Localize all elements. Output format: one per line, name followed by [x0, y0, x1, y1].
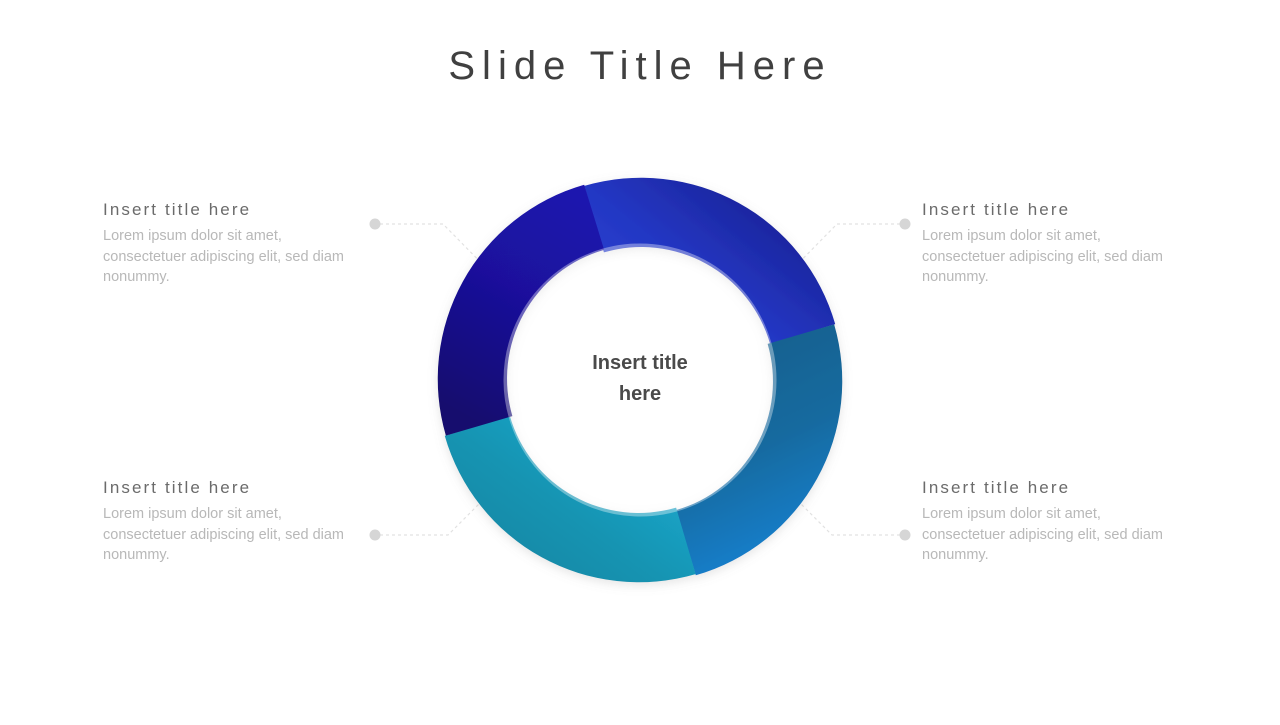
callout-top-right-body: Lorem ipsum dolor sit amet, consectetuer…	[922, 226, 1172, 288]
donut-center-line1: Insert title	[540, 348, 740, 379]
callout-top-left-title: Insert title here	[103, 200, 353, 220]
slide-canvas: Slide Title Here	[0, 0, 1280, 720]
callout-top-left[interactable]: Insert title here Lorem ipsum dolor sit …	[103, 200, 353, 288]
callout-bottom-left-body: Lorem ipsum dolor sit amet, consectetuer…	[103, 504, 353, 566]
donut-center-line2: here	[540, 379, 740, 410]
callout-bottom-left[interactable]: Insert title here Lorem ipsum dolor sit …	[103, 478, 353, 566]
callout-bottom-left-title: Insert title here	[103, 478, 353, 498]
donut-center-label: Insert title here	[540, 348, 740, 410]
donut-chart: Insert title here	[0, 0, 1280, 720]
callout-top-left-body: Lorem ipsum dolor sit amet, consectetuer…	[103, 226, 353, 288]
callout-bottom-right[interactable]: Insert title here Lorem ipsum dolor sit …	[922, 478, 1172, 566]
callout-bottom-right-title: Insert title here	[922, 478, 1172, 498]
callout-bottom-right-body: Lorem ipsum dolor sit amet, consectetuer…	[922, 504, 1172, 566]
callout-top-right-title: Insert title here	[922, 200, 1172, 220]
callout-top-right[interactable]: Insert title here Lorem ipsum dolor sit …	[922, 200, 1172, 288]
